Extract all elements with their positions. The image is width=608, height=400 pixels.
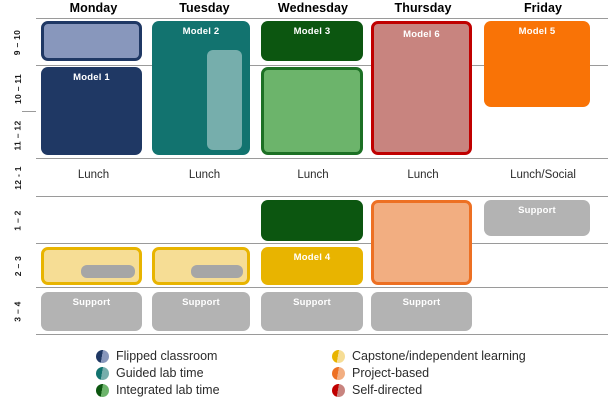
schedule-block-label: Model 5 (484, 26, 590, 37)
time-row-label-text: 9 – 10 (0, 30, 42, 55)
legend-item-label: Project-based (352, 366, 429, 381)
schedule-block-wednesday-model-4[interactable]: Model 4 (261, 247, 363, 285)
legend-item: Capstone/independent learning (332, 348, 526, 365)
grid-rule (36, 18, 608, 19)
schedule-block-tuesday-support[interactable]: Support (152, 292, 250, 331)
time-row-label-text: 11 – 12 (0, 121, 42, 151)
schedule-block-label: Model 4 (261, 252, 363, 263)
legend-swatch-circle-icon (332, 367, 345, 380)
lunch-label-wednesday: Lunch (258, 169, 368, 181)
schedule-block-label: Support (484, 205, 590, 216)
legend-item-label: Integrated lab time (116, 383, 220, 398)
legend-item-label: Guided lab time (116, 366, 204, 381)
schedule-block-friday-model-5[interactable]: Model 5 (484, 21, 590, 107)
grid-rule (36, 243, 608, 244)
schedule-block-label: Support (371, 297, 472, 308)
time-row-label-text: 3 – 4 (0, 301, 42, 321)
legend-swatch-circle-icon (96, 350, 109, 363)
legend-item: Integrated lab time (96, 382, 220, 399)
legend-item: Self-directed (332, 382, 526, 399)
legend: Flipped classroomGuided lab timeIntegrat… (0, 348, 608, 400)
legend-item-label: Capstone/independent learning (352, 349, 526, 364)
day-header-monday: Monday (36, 1, 151, 16)
schedule-block-label: Support (152, 297, 250, 308)
legend-swatch-circle-icon (96, 367, 109, 380)
legend-swatch-circle-icon (332, 350, 345, 363)
time-row-label: 2 – 3 (0, 244, 36, 288)
grid-rule (36, 287, 608, 288)
schedule-block-label: Support (41, 297, 142, 308)
grid-rule (36, 158, 608, 159)
schedule-block-monday-capstone[interactable] (41, 247, 142, 285)
schedule-block-inner-segment (191, 265, 243, 278)
schedule-block-tuesday-capstone[interactable] (152, 247, 250, 285)
legend-swatch-circle-icon (96, 384, 109, 397)
legend-item: Project-based (332, 365, 526, 382)
schedule-block-monday-support[interactable]: Support (41, 292, 142, 331)
day-header-wednesday: Wednesday (258, 1, 368, 16)
legend-swatch-circle-icon (332, 384, 345, 397)
lunch-label-thursday: Lunch (368, 169, 478, 181)
schedule-block-wednesday-afternoon-integrated[interactable] (261, 200, 363, 241)
schedule-block-thursday-model-6[interactable]: Model 6 (371, 21, 472, 155)
schedule-block-label: Model 6 (374, 29, 469, 40)
schedule-block-tuesday-model-2[interactable]: Model 2 (152, 21, 250, 155)
schedule-block-label: Support (261, 297, 363, 308)
schedule-block-wednesday-support[interactable]: Support (261, 292, 363, 331)
schedule-block-inner-segment (207, 50, 242, 150)
time-row-label: 9 – 10 (0, 19, 36, 66)
legend-column-right: Capstone/independent learningProject-bas… (332, 348, 526, 399)
lunch-label-tuesday: Lunch (151, 169, 258, 181)
day-header-thursday: Thursday (368, 1, 478, 16)
schedule-block-inner-segment (81, 265, 135, 278)
weekly-timetable: MondayTuesdayWednesdayThursdayFriday9 – … (0, 0, 608, 345)
legend-item-label: Flipped classroom (116, 349, 217, 364)
schedule-block-label: Model 2 (152, 26, 250, 37)
schedule-block-wednesday-model-3[interactable]: Model 3 (261, 21, 363, 61)
grid-rule (36, 334, 608, 335)
time-row-label: 3 – 4 (0, 288, 36, 335)
time-row-label: 10 – 11 (0, 66, 36, 112)
legend-item-label: Self-directed (352, 383, 422, 398)
schedule-block-monday-flipped-prework[interactable] (41, 21, 142, 61)
time-row-label: 12 - 1 (0, 159, 36, 197)
lunch-label-friday: Lunch/Social (478, 169, 608, 181)
schedule-block-friday-support-1-2[interactable]: Support (484, 200, 590, 236)
schedule-block-label: Model 1 (41, 72, 142, 83)
day-header-friday: Friday (478, 1, 608, 16)
schedule-block-monday-model-1[interactable]: Model 1 (41, 67, 142, 155)
time-row-label: 11 – 12 (0, 112, 36, 159)
time-row-label-text: 2 – 3 (0, 256, 40, 276)
legend-column-left: Flipped classroomGuided lab timeIntegrat… (96, 348, 220, 399)
time-row-label-text: 10 – 11 (0, 74, 41, 104)
schedule-block-thursday-project-based[interactable] (371, 200, 472, 285)
time-row-label-text: 1 – 2 (0, 210, 42, 230)
legend-item: Guided lab time (96, 365, 220, 382)
time-row-label-text: 12 - 1 (0, 166, 37, 190)
grid-rule (36, 196, 608, 197)
schedule-block-thursday-support[interactable]: Support (371, 292, 472, 331)
schedule-block-label: Model 3 (261, 26, 363, 37)
legend-item: Flipped classroom (96, 348, 220, 365)
lunch-label-monday: Lunch (36, 169, 151, 181)
time-row-label: 1 – 2 (0, 197, 36, 244)
schedule-block-wednesday-integrated-lab[interactable] (261, 67, 363, 155)
day-header-tuesday: Tuesday (151, 1, 258, 16)
